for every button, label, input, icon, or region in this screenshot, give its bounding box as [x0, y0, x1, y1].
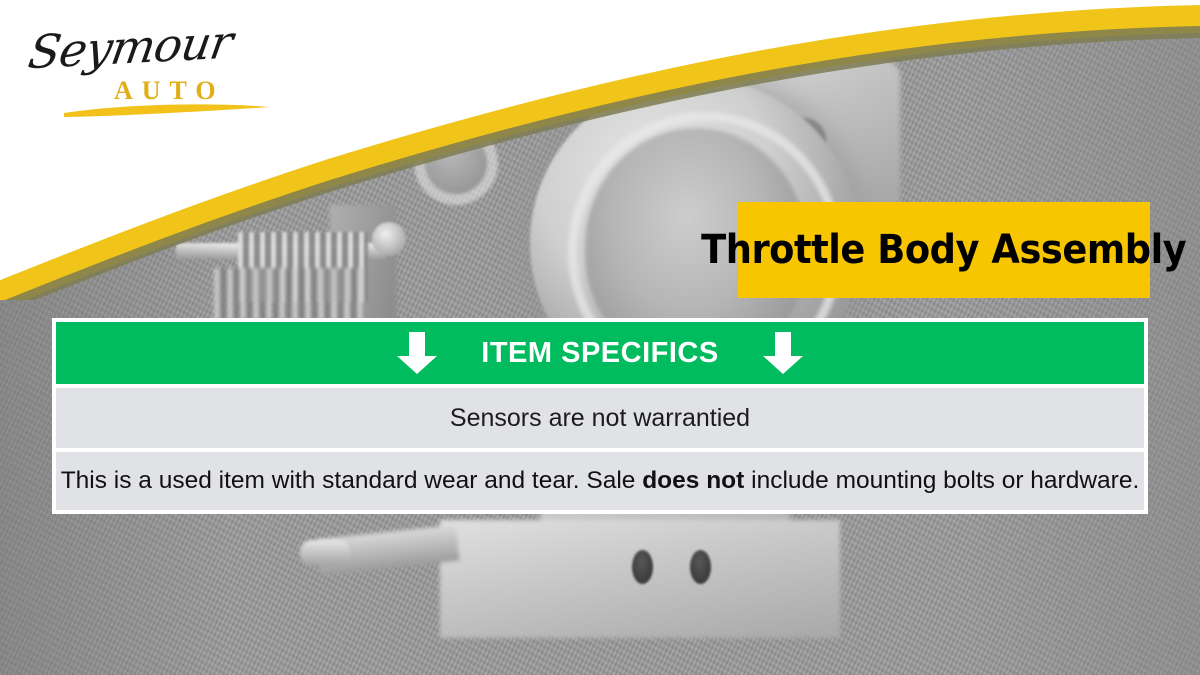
- brand-logo: Seymour AUTO: [24, 18, 284, 118]
- brand-sub-name: AUTO: [114, 76, 225, 106]
- spec-row-sensors: Sensors are not warrantied: [56, 384, 1144, 448]
- arrow-down-icon: [761, 330, 805, 376]
- item-specifics-header: ITEM SPECIFICS: [56, 322, 1144, 384]
- mounting-bolt-hole-left: [632, 550, 653, 584]
- side-bracket-stub: [300, 540, 350, 566]
- spec-row-sensors-text: Sensors are not warrantied: [450, 404, 750, 433]
- mounting-bolt-hole-right: [690, 550, 711, 584]
- spec-row-condition: This is a used item with standard wear a…: [56, 448, 1144, 510]
- listing-slide: Seymour AUTO Throttle Body Assembly ITEM…: [0, 0, 1200, 675]
- item-specifics-title: ITEM SPECIFICS: [481, 337, 718, 370]
- condition-emphasis: does not: [642, 467, 744, 494]
- condition-suffix: include mounting bolts or hardware.: [744, 467, 1139, 494]
- item-specifics-panel: ITEM SPECIFICS Sensors are not warrantie…: [52, 318, 1148, 514]
- spec-row-condition-text: This is a used item with standard wear a…: [61, 467, 1140, 495]
- arrow-down-icon: [395, 330, 439, 376]
- product-title-plate: Throttle Body Assembly: [738, 202, 1150, 298]
- condition-prefix: This is a used item with standard wear a…: [61, 467, 643, 494]
- product-title: Throttle Body Assembly: [701, 227, 1186, 273]
- brand-script-name: Seymour: [25, 15, 236, 79]
